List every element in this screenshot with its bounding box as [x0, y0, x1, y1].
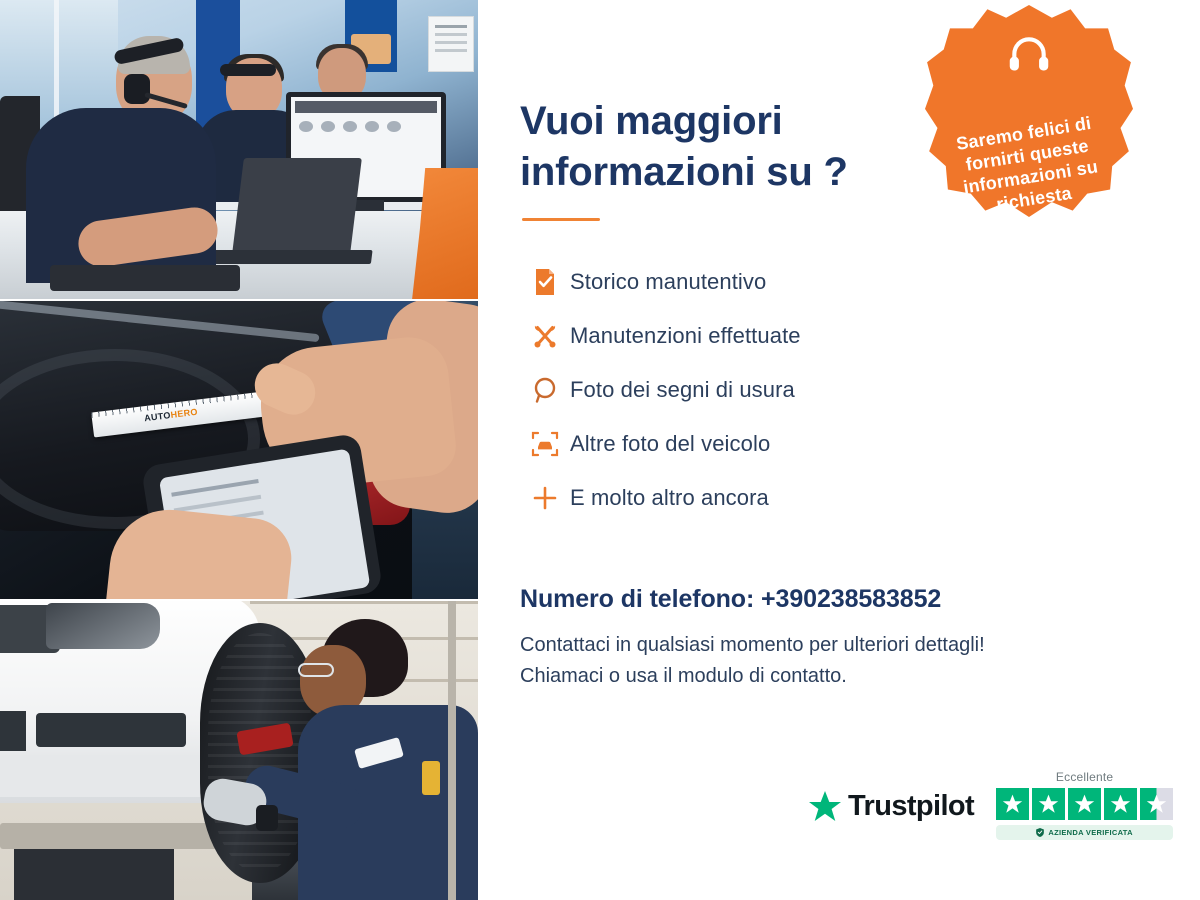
star-4	[1104, 788, 1137, 820]
feature-item-storico: Storico manutentivo	[520, 255, 1146, 309]
contact-subtext: Contattaci in qualsiasi momento per ulte…	[520, 630, 1146, 692]
headline-line-2: informazioni su ?	[520, 150, 848, 194]
star-5-half	[1140, 788, 1173, 820]
feature-label: Storico manutentivo	[570, 269, 766, 295]
trustpilot-rating: Eccellente AZIENDA VERIFICATA	[996, 770, 1173, 840]
wall-pole	[448, 601, 456, 900]
page-title: Vuoi maggiori informazioni su ?	[520, 96, 940, 198]
photo-column: AUTOHERO	[0, 0, 478, 900]
rating-label: Eccellente	[996, 770, 1173, 784]
title-underline-rule	[522, 218, 600, 221]
feature-item-foto-usura: Foto dei segni di usura	[520, 363, 1146, 417]
verified-text: AZIENDA VERIFICATA	[1048, 828, 1132, 837]
content-panel: Vuoi maggiori informazioni su ? Saremo f…	[478, 0, 1200, 900]
photo-body-inspection: AUTOHERO	[0, 301, 478, 600]
star-3	[1068, 788, 1101, 820]
side-intake	[0, 711, 26, 751]
lift-base	[14, 849, 174, 900]
feature-label: Foto dei segni di usura	[570, 377, 795, 403]
contact-subtext-line-2: Chiamaci o usa il modulo di contatto.	[520, 665, 847, 687]
front-bumper	[0, 755, 224, 797]
keyboard-tray	[50, 265, 240, 291]
trustpilot-widget[interactable]: Trustpilot Eccellente AZIENDA VERIFICA	[808, 770, 1173, 840]
phone-number[interactable]: Numero di telefono: +390238583852	[520, 585, 1146, 614]
star-rating	[996, 788, 1173, 820]
feature-item-altre-foto: Altre foto del veicolo	[520, 417, 1146, 471]
agent-one-with-headset	[18, 36, 208, 276]
fluid-bottle	[422, 761, 440, 795]
feature-label: Manutenzioni effettuate	[570, 323, 801, 349]
feature-label: Altre foto del veicolo	[570, 431, 770, 457]
laptop	[232, 158, 362, 254]
car-focus-frame-icon	[520, 430, 570, 458]
lower-grille	[36, 713, 186, 747]
feature-item-manutenzioni: Manutenzioni effettuate	[520, 309, 1146, 363]
wall-panel-lines	[250, 601, 478, 604]
promo-banner: AUTOHERO	[0, 0, 1200, 900]
wall-notice	[428, 16, 474, 72]
photo-wheel-service	[0, 601, 478, 900]
magnifier-icon	[520, 376, 570, 404]
photo-call-center	[0, 0, 478, 299]
headset-icon	[1007, 33, 1051, 75]
trustpilot-brand: Trustpilot	[848, 790, 974, 823]
feature-list: Storico manutentivo Manutenzi	[520, 255, 1146, 525]
trustpilot-logo: Trustpilot	[808, 790, 974, 823]
feature-label: E molto altro ancora	[570, 485, 769, 511]
star-1	[996, 788, 1029, 820]
verified-company-badge: AZIENDA VERIFICATA	[996, 825, 1173, 840]
contact-block: Numero di telefono: +390238583852 Contat…	[520, 585, 1146, 692]
headlight	[46, 603, 160, 649]
feature-item-altro-ancora: E molto altro ancora	[520, 471, 1146, 525]
tools-cross-icon	[520, 322, 570, 350]
trustpilot-star-icon	[808, 790, 842, 823]
plus-icon	[520, 485, 570, 511]
document-check-icon	[520, 268, 570, 296]
headline-line-1: Vuoi maggiori	[520, 99, 783, 143]
contact-subtext-line-1: Contattaci in qualsiasi momento per ulte…	[520, 634, 985, 656]
star-2	[1032, 788, 1065, 820]
promo-badge: Saremo felici di fornirti queste informa…	[925, 5, 1133, 217]
shield-check-icon	[1036, 828, 1044, 837]
